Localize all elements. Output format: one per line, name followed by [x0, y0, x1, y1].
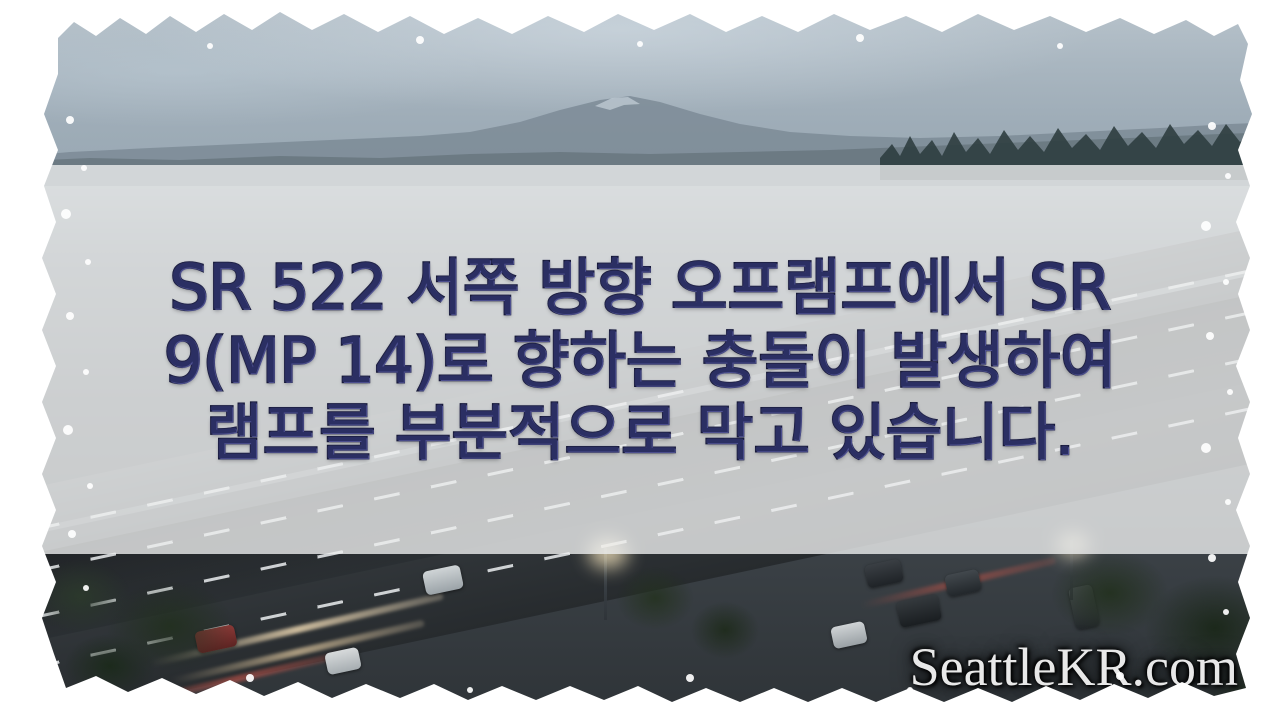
alert-line-2: 9(MP 14)로 향하는 충돌이 발생하여	[164, 325, 1117, 398]
site-watermark: SeattleKR.com	[910, 636, 1238, 698]
alert-message: SR 522 서쪽 방향 오프램프에서 SR 9(MP 14)로 향하는 충돌이…	[0, 168, 1280, 554]
alert-line-1: SR 522 서쪽 방향 오프램프에서 SR	[169, 252, 1110, 325]
traffic-alert-card: SR 522 서쪽 방향 오프램프에서 SR 9(MP 14)로 향하는 충돌이…	[0, 0, 1280, 720]
alert-line-3: 램프를 부분적으로 막고 있습니다.	[206, 397, 1074, 470]
roadside-trees-center	[600, 560, 780, 680]
roadside-trees-left	[40, 556, 250, 706]
